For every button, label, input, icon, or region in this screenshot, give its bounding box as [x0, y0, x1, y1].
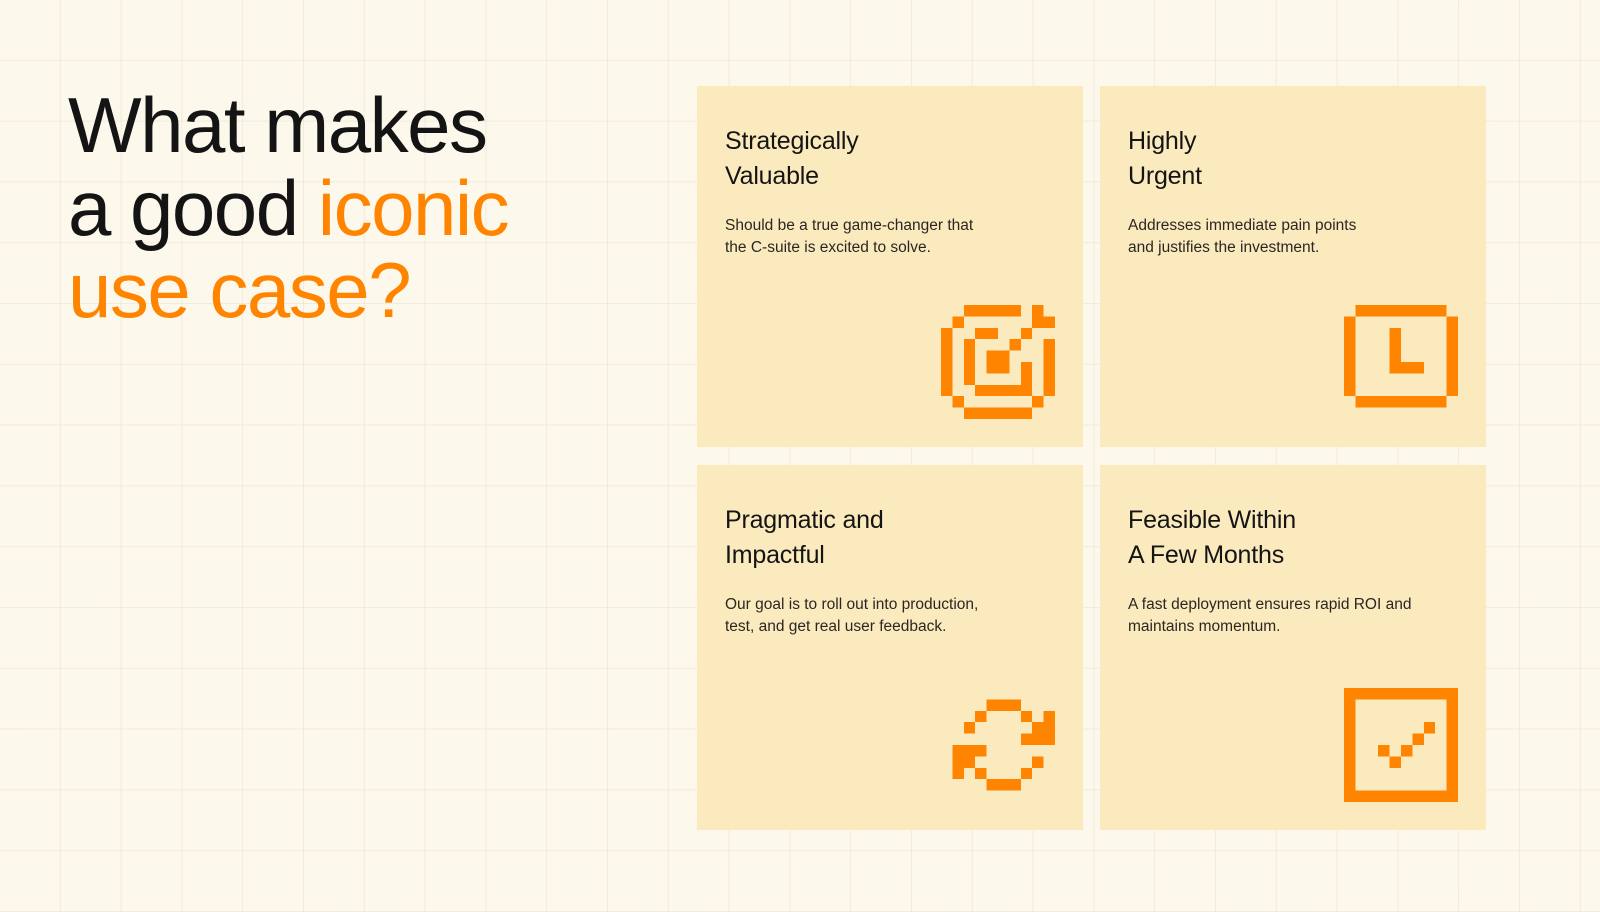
card-title: Pragmatic and Impactful	[725, 503, 1053, 572]
criteria-card-grid: Strategically Valuable Should be a true …	[697, 86, 1486, 830]
card-strategically-valuable: Strategically Valuable Should be a true …	[697, 86, 1083, 447]
card-highly-urgent: Highly Urgent Addresses immediate pain p…	[1100, 86, 1486, 447]
card-title: Strategically Valuable	[725, 124, 1053, 193]
clock-l-frame-pixel-icon	[1344, 305, 1458, 419]
card-title: Highly Urgent	[1128, 124, 1456, 193]
card-description: Our goal is to roll out into production,…	[725, 594, 1053, 638]
card-title: Feasible Within A Few Months	[1128, 503, 1456, 572]
headline-line-2: a good iconic	[68, 167, 668, 250]
card-feasible-within-a-few-months: Feasible Within A Few Months A fast depl…	[1100, 465, 1486, 830]
card-description: A fast deployment ensures rapid ROI and …	[1128, 594, 1456, 638]
target-pixel-icon	[941, 305, 1055, 419]
card-description: Should be a true game-changer that the C…	[725, 215, 1053, 259]
card-pragmatic-and-impactful: Pragmatic and Impactful Our goal is to r…	[697, 465, 1083, 830]
headline-line-3: use case?	[68, 249, 668, 332]
headline-line-1: What makes	[68, 84, 668, 167]
headline-line-2-plain: a good	[68, 164, 318, 252]
chart-uptrend-frame-pixel-icon	[1344, 688, 1458, 802]
page-title: What makes a good iconic use case?	[68, 84, 668, 332]
card-description: Addresses immediate pain points and just…	[1128, 215, 1456, 259]
headline-line-2-accent: iconic	[318, 164, 508, 252]
refresh-cycle-pixel-icon	[941, 688, 1055, 802]
